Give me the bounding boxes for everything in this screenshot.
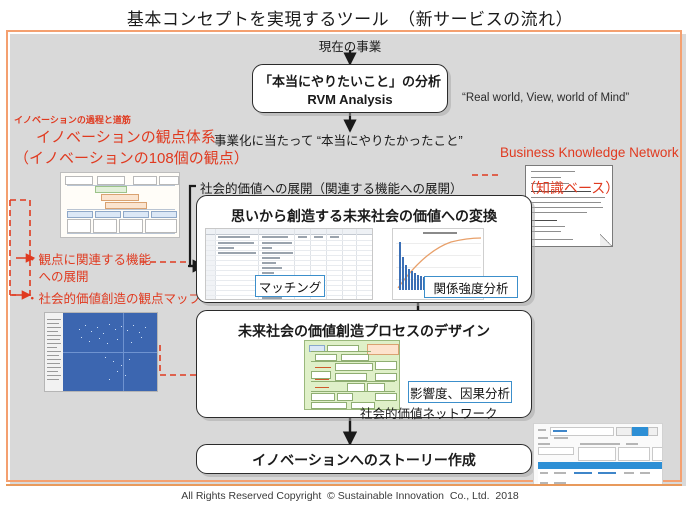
rvm-line1: 「本当にやりたいこと」の分析 bbox=[252, 71, 448, 90]
after-rvm-label: 事業化に当たって “本当にやりたかったこと” bbox=[214, 130, 463, 149]
left-bullet-1-line2: への展開 bbox=[26, 266, 89, 285]
innovation-story-title: イノベーションへのストーリー作成 bbox=[196, 450, 532, 470]
value-creation-process-thumbnail[interactable] bbox=[304, 340, 400, 410]
rvm-quote: “Real world, View, world of Mind” bbox=[462, 92, 629, 104]
matching-chip[interactable]: マッチング bbox=[255, 275, 325, 297]
rvm-line2: RVM Analysis bbox=[252, 92, 448, 107]
social-value-network-label: 社会的価値ネットワーク bbox=[360, 403, 498, 422]
impact-causal-chip[interactable]: 影響度、因果分析 bbox=[408, 381, 512, 403]
left-small-red-note: イノベーションの過程と道筋 bbox=[14, 113, 131, 126]
copyright-footer: All Rights Reserved Copyright © Sustaina… bbox=[0, 490, 700, 502]
bkn-sub: （知識ベース） bbox=[522, 178, 619, 198]
application-screenshot-thumbnail[interactable] bbox=[533, 423, 663, 485]
left-heading-2: （イノベーションの108個の観点） bbox=[14, 147, 249, 168]
footer-divider bbox=[6, 484, 682, 486]
left-bullet-2: ・社会的価値創造の観点マップ bbox=[26, 288, 201, 307]
value-conversion-title: 思いから創造する未来社会の価値への変換 bbox=[196, 206, 532, 226]
innovation-viewpoint-map-thumbnail[interactable] bbox=[60, 172, 180, 238]
bkn-title: Business Knowledge Network bbox=[500, 145, 679, 160]
current-business-label: 現在の事業 bbox=[0, 36, 700, 55]
page-title: 基本コンセプトを実現するツール （新サービスの流れ） bbox=[0, 5, 700, 30]
relation-strength-chip[interactable]: 関係強度分析 bbox=[424, 276, 518, 298]
process-design-title: 未来社会の価値創造プロセスのデザイン bbox=[196, 321, 532, 341]
slide-canvas: 基本コンセプトを実現するツール （新サービスの流れ） bbox=[0, 0, 700, 512]
viewpoint-scatter-map-thumbnail[interactable] bbox=[44, 312, 158, 392]
left-heading-1: イノベーションの観点体系 bbox=[36, 126, 216, 147]
